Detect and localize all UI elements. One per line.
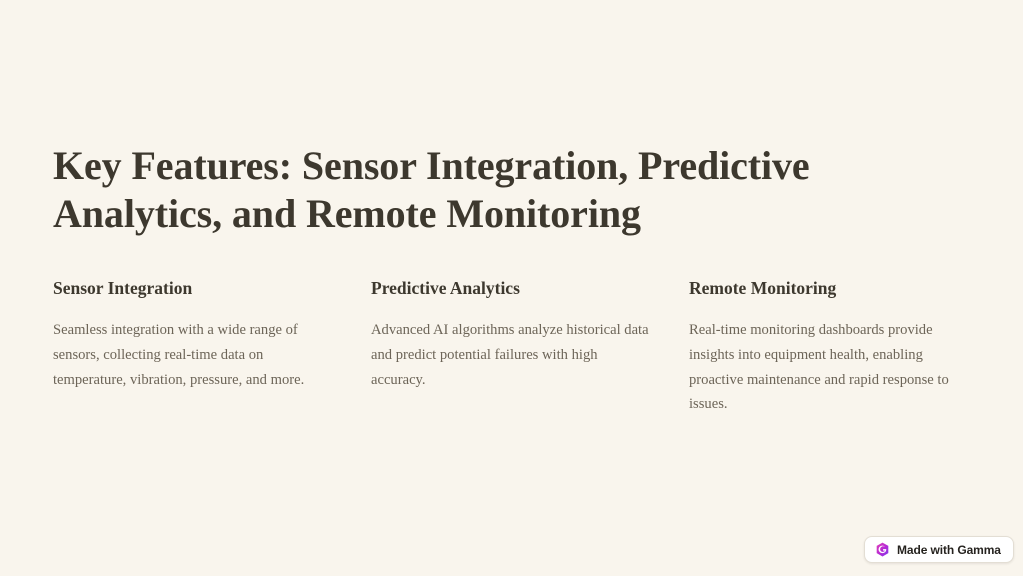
feature-column-remote-monitoring: Remote Monitoring Real-time monitoring d… xyxy=(689,276,969,417)
feature-column-sensor-integration: Sensor Integration Seamless integration … xyxy=(53,276,333,392)
feature-columns: Sensor Integration Seamless integration … xyxy=(53,276,973,417)
slide-canvas: Key Features: Sensor Integration, Predic… xyxy=(0,0,1023,576)
made-with-gamma-badge[interactable]: Made with Gamma xyxy=(864,536,1014,563)
feature-heading: Sensor Integration xyxy=(53,276,333,300)
feature-column-predictive-analytics: Predictive Analytics Advanced AI algorit… xyxy=(371,276,651,392)
feature-body: Real-time monitoring dashboards provide … xyxy=(689,318,969,417)
feature-body: Seamless integration with a wide range o… xyxy=(53,318,333,392)
page-title: Key Features: Sensor Integration, Predic… xyxy=(53,142,933,238)
made-with-gamma-label: Made with Gamma xyxy=(897,543,1001,557)
feature-heading: Predictive Analytics xyxy=(371,276,651,300)
gamma-logo-icon xyxy=(875,542,890,557)
feature-body: Advanced AI algorithms analyze historica… xyxy=(371,318,651,392)
feature-heading: Remote Monitoring xyxy=(689,276,969,300)
